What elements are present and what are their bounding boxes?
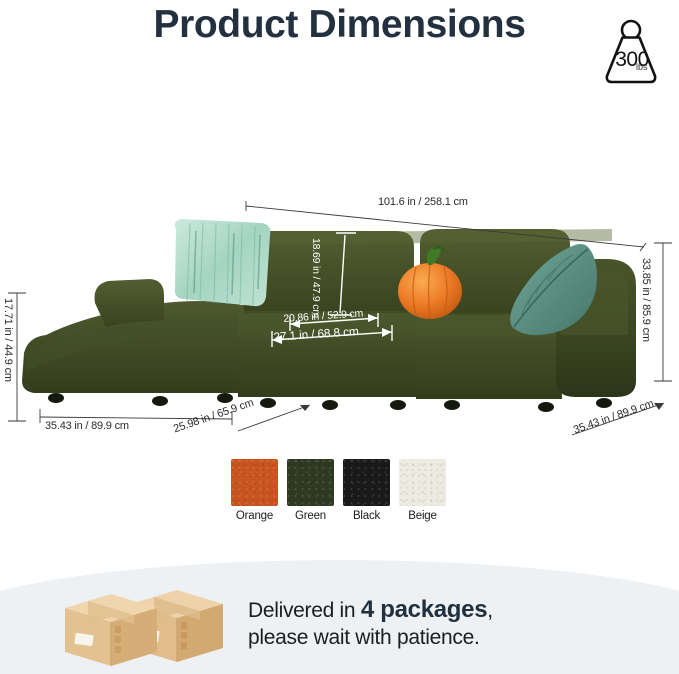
color-swatch-green[interactable]: Green (287, 459, 334, 522)
weight-unit: lbs (636, 62, 648, 72)
delivery-line2: please wait with patience. (248, 624, 668, 651)
dim-overall-width: 101.6 in / 258.1 cm (378, 196, 468, 208)
dim-chaise-width: 35.43 in / 89.9 cm (45, 420, 129, 432)
page-title: Product Dimensions (0, 2, 679, 48)
swatch-chip (399, 459, 446, 506)
product-dimensions-infographic: Product Dimensions 300 lbs (0, 0, 679, 674)
delivery-prefix: Delivered in (248, 599, 361, 622)
swatch-label: Beige (399, 510, 446, 522)
dim-overall-height: 33.85 in / 85.9 cm (640, 258, 652, 342)
swatch-chip (287, 459, 334, 506)
weight-value: 300 (605, 48, 659, 72)
color-swatch-list: Orange Green Black Beige (231, 459, 446, 522)
swatch-label: Orange (231, 510, 278, 522)
swatch-label: Black (343, 510, 390, 522)
delivery-message: Delivered in 4 packages, please wait wit… (248, 596, 668, 651)
mint-pillow (175, 219, 270, 306)
color-swatch-black[interactable]: Black (343, 459, 390, 522)
package-boxes-icon (55, 586, 245, 668)
dim-chaise-height: 17.71 in / 44.9 cm (2, 298, 14, 382)
delivery-suffix: , (487, 599, 493, 622)
swatch-chip (231, 459, 278, 506)
delivery-package-count: 4 packages (361, 596, 487, 623)
dim-backrest-height: 18.69 in / 47.9 cm (310, 238, 322, 318)
swatch-chip (343, 459, 390, 506)
color-swatch-beige[interactable]: Beige (399, 459, 446, 522)
swatch-label: Green (287, 510, 334, 522)
color-swatch-orange[interactable]: Orange (231, 459, 278, 522)
